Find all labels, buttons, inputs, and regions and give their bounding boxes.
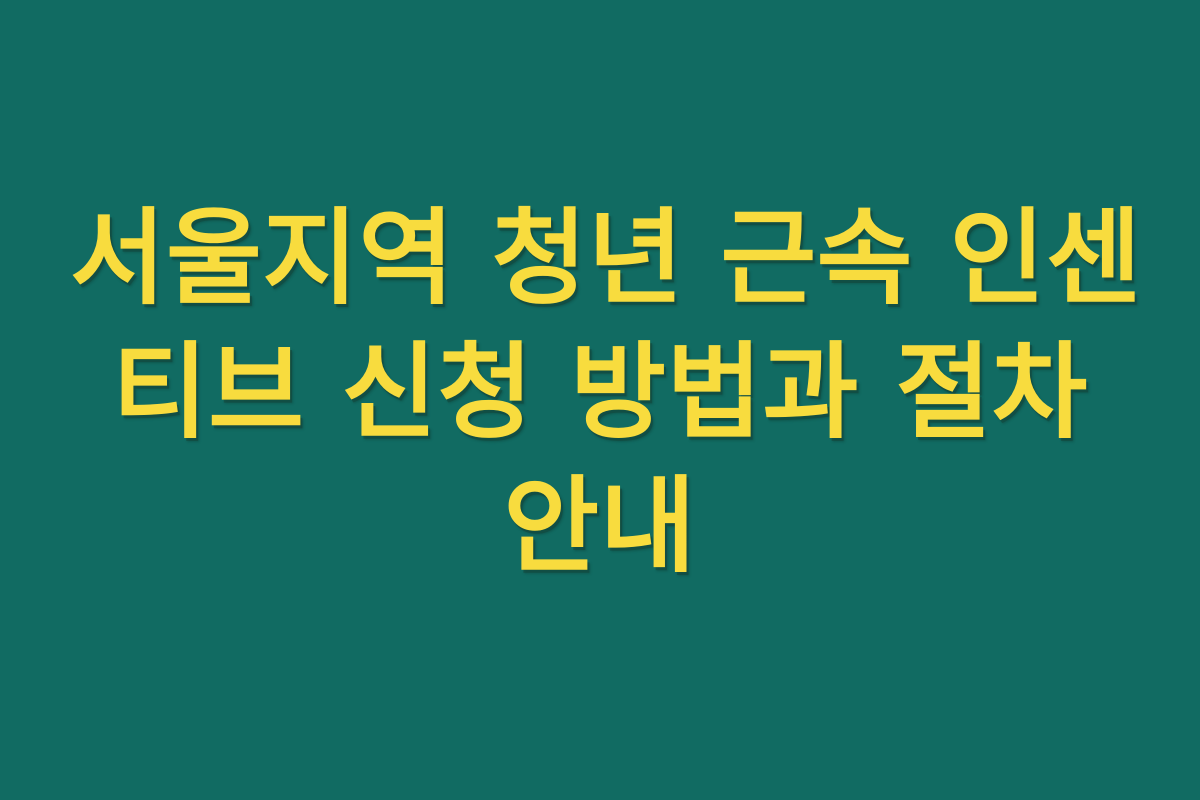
title-line-3: 안내	[70, 459, 1130, 593]
title-line-2: 티브 신청 방법과 절차	[70, 325, 1130, 459]
page-title: 서울지역 청년 근속 인센 티브 신청 방법과 절차 안내	[70, 191, 1130, 593]
title-card: 서울지역 청년 근속 인센 티브 신청 방법과 절차 안내	[0, 0, 1200, 800]
title-line-1: 서울지역 청년 근속 인센	[70, 191, 1130, 325]
